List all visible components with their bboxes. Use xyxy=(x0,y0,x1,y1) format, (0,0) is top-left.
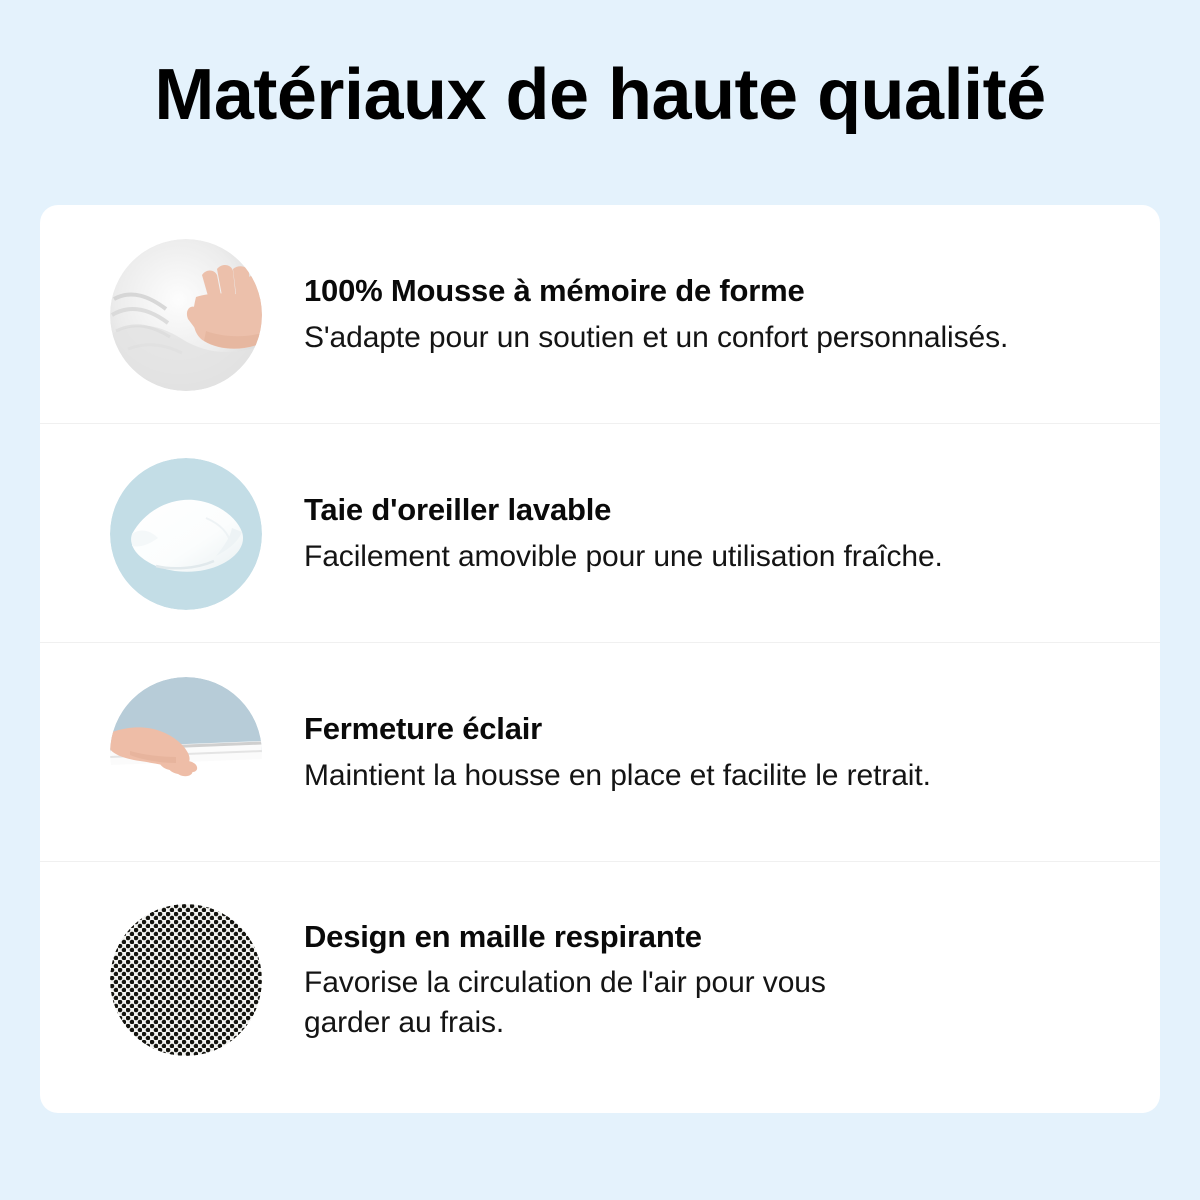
memory-foam-hand-press-icon xyxy=(110,239,262,391)
feature-heading: Taie d'oreiller lavable xyxy=(304,492,1120,529)
feature-description: Favorise la circulation de l'air pour vo… xyxy=(304,963,1120,1042)
feature-description-line: Facilement amovible pour une utilisation… xyxy=(304,537,1120,577)
feature-text: Fermeture éclair Maintient la housse en … xyxy=(304,709,1120,795)
feature-heading: 100% Mousse à mémoire de forme xyxy=(304,273,1120,310)
feature-text: Taie d'oreiller lavable Facilement amovi… xyxy=(304,490,1120,576)
feature-description-line: Maintient la housse en place et facilite… xyxy=(304,756,1120,796)
feature-list-card: 100% Mousse à mémoire de forme S'adapte … xyxy=(40,205,1160,1113)
feature-text: 100% Mousse à mémoire de forme S'adapte … xyxy=(304,271,1120,357)
page-root: Matériaux de haute qualité xyxy=(0,0,1200,1200)
feature-heading: Fermeture éclair xyxy=(304,711,1120,748)
feature-description-line: Favorise la circulation de l'air pour vo… xyxy=(304,963,1120,1003)
feature-row: Design en maille respirante Favorise la … xyxy=(40,862,1160,1097)
zipper-hand-pull-icon xyxy=(110,677,262,829)
feature-row: Fermeture éclair Maintient la housse en … xyxy=(40,643,1160,862)
feature-heading: Design en maille respirante xyxy=(304,919,1120,956)
feature-row: Taie d'oreiller lavable Facilement amovi… xyxy=(40,424,1160,643)
feature-description-line: garder au frais. xyxy=(304,1003,1120,1043)
feature-description: Maintient la housse en place et facilite… xyxy=(304,756,1120,796)
washable-pillowcase-icon xyxy=(110,458,262,610)
breathable-mesh-dots-icon xyxy=(110,904,262,1056)
feature-description: S'adapte pour un soutien et un confort p… xyxy=(304,318,1120,358)
feature-description-line: S'adapte pour un soutien et un confort p… xyxy=(304,318,1120,358)
feature-text: Design en maille respirante Favorise la … xyxy=(304,917,1120,1043)
page-title: Matériaux de haute qualité xyxy=(0,58,1200,134)
feature-description: Facilement amovible pour une utilisation… xyxy=(304,537,1120,577)
feature-row: 100% Mousse à mémoire de forme S'adapte … xyxy=(40,205,1160,424)
